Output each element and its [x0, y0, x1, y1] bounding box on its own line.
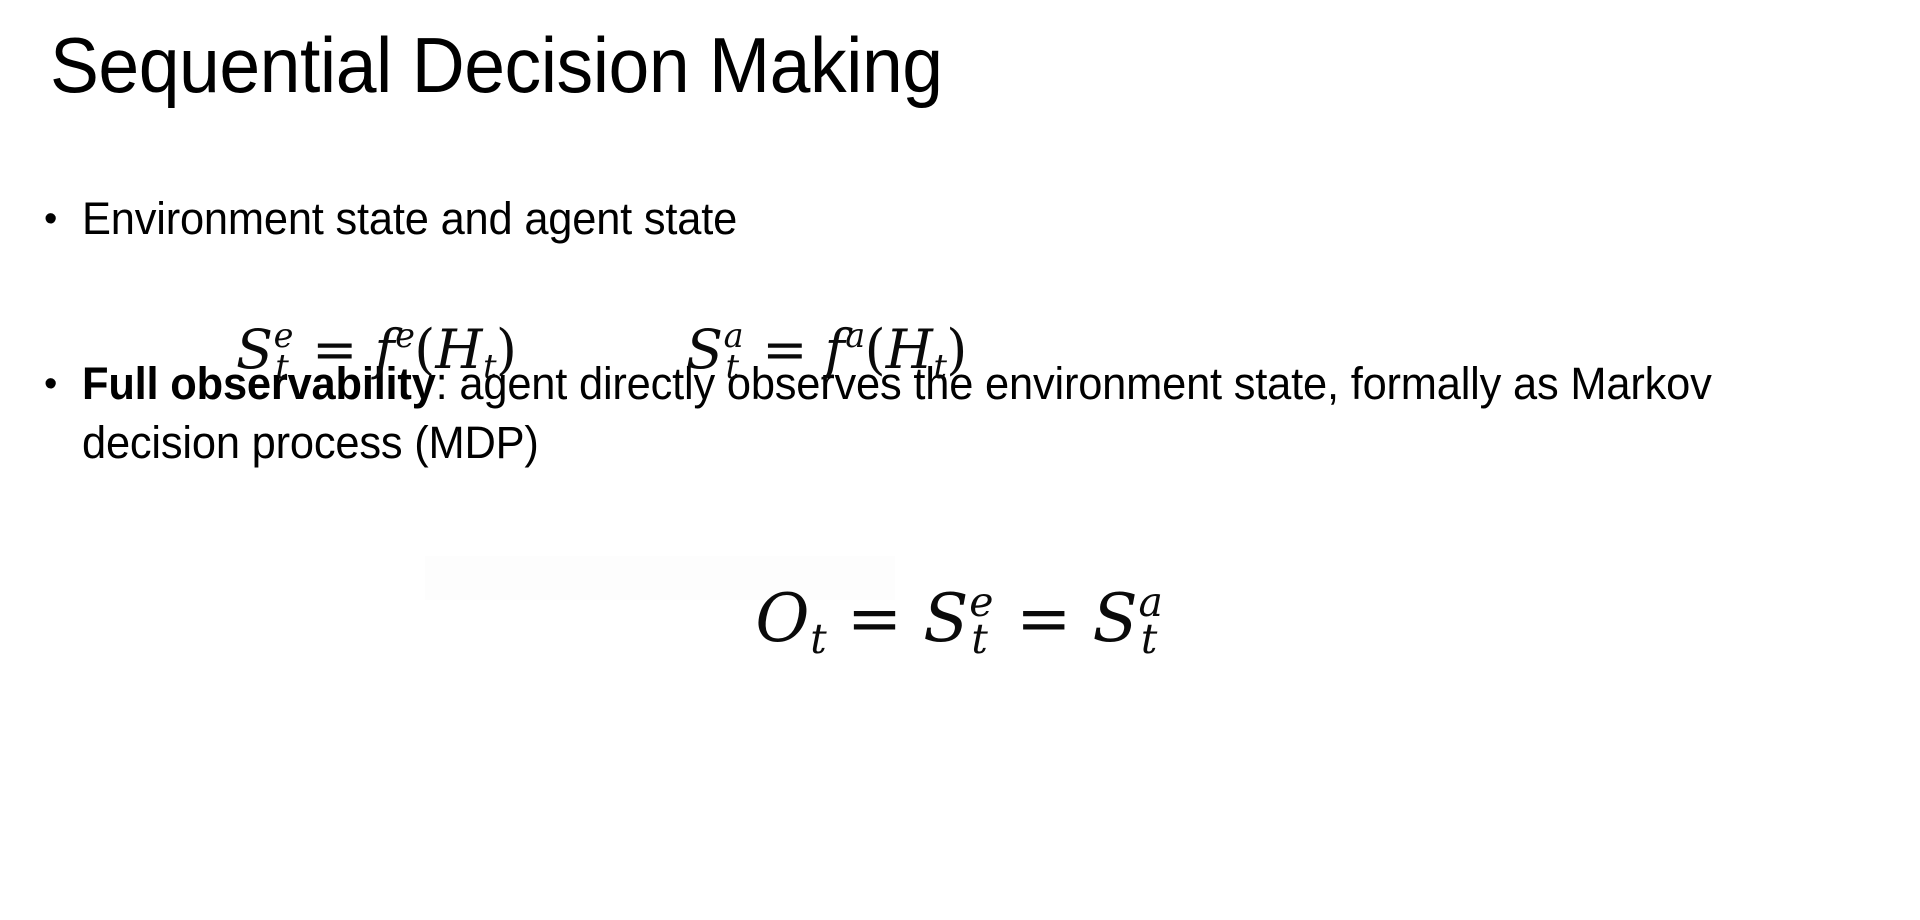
eq1b-f: f: [825, 318, 845, 381]
eq1a-close-paren: ): [496, 318, 517, 381]
eq1a-sup-e2: e: [395, 316, 415, 355]
eq1a-H: H: [435, 318, 482, 381]
bullet-marker-icon: •: [44, 190, 82, 249]
eq1b-H: H: [886, 318, 933, 381]
symbol-f-e: fe: [374, 318, 414, 381]
bullet-text-environment-state: Environment state and agent state: [82, 190, 1802, 249]
symbol-f-a: fa: [825, 318, 865, 381]
eq2-equals-2: =: [1016, 580, 1071, 657]
eq2-sub-t1: t: [810, 615, 826, 663]
eq1a-S: S: [236, 318, 273, 381]
symbol-O-t: Ot: [755, 580, 826, 657]
page-title: Sequential Decision Making: [50, 22, 943, 109]
eq1b-S: S: [686, 318, 723, 381]
eq2-S2: S: [1092, 580, 1137, 657]
symbol-S-e: Set: [236, 318, 295, 381]
equation-full-observability: Ot = Set = Sat: [755, 580, 1164, 657]
eq2-O: O: [755, 580, 809, 657]
slide-canvas: Sequential Decision Making • Environment…: [0, 0, 1920, 920]
eq1a-equals: =: [312, 318, 357, 381]
symbol-H-t-2: Ht: [886, 318, 947, 381]
eq1a-f: f: [374, 318, 394, 381]
eq2-sub-t3: t: [1141, 615, 1157, 663]
equation-environment-state: Set = fe(Ht): [236, 318, 517, 381]
symbol-S-e-2: Set: [923, 580, 995, 657]
eq2-sub-t2: t: [971, 615, 987, 663]
eq1b-sub-t2: t: [933, 347, 946, 386]
eq2-S1: S: [923, 580, 968, 657]
symbol-H-t: Ht: [435, 318, 496, 381]
bullet-item-environment-state: • Environment state and agent state: [44, 190, 1864, 249]
eq1a-open-paren: (: [414, 318, 435, 381]
eq1b-open-paren: (: [865, 318, 886, 381]
eq1a-sub-t2: t: [483, 347, 496, 386]
bullet-marker-icon: •: [44, 355, 82, 414]
eq1b-sup-a2: a: [845, 316, 865, 355]
equation-agent-state: Sat = fa(Ht): [686, 318, 967, 381]
symbol-S-a: Sat: [686, 318, 745, 381]
eq1b-equals: =: [762, 318, 807, 381]
eq2-equals-1: =: [847, 580, 902, 657]
eq1b-sub-t: t: [726, 347, 739, 386]
symbol-S-a-2: Sat: [1092, 580, 1164, 657]
eq1a-sub-t: t: [275, 347, 288, 386]
equation-row-2: Ot = Set = Sat: [0, 580, 1920, 657]
eq1b-close-paren: ): [946, 318, 967, 381]
